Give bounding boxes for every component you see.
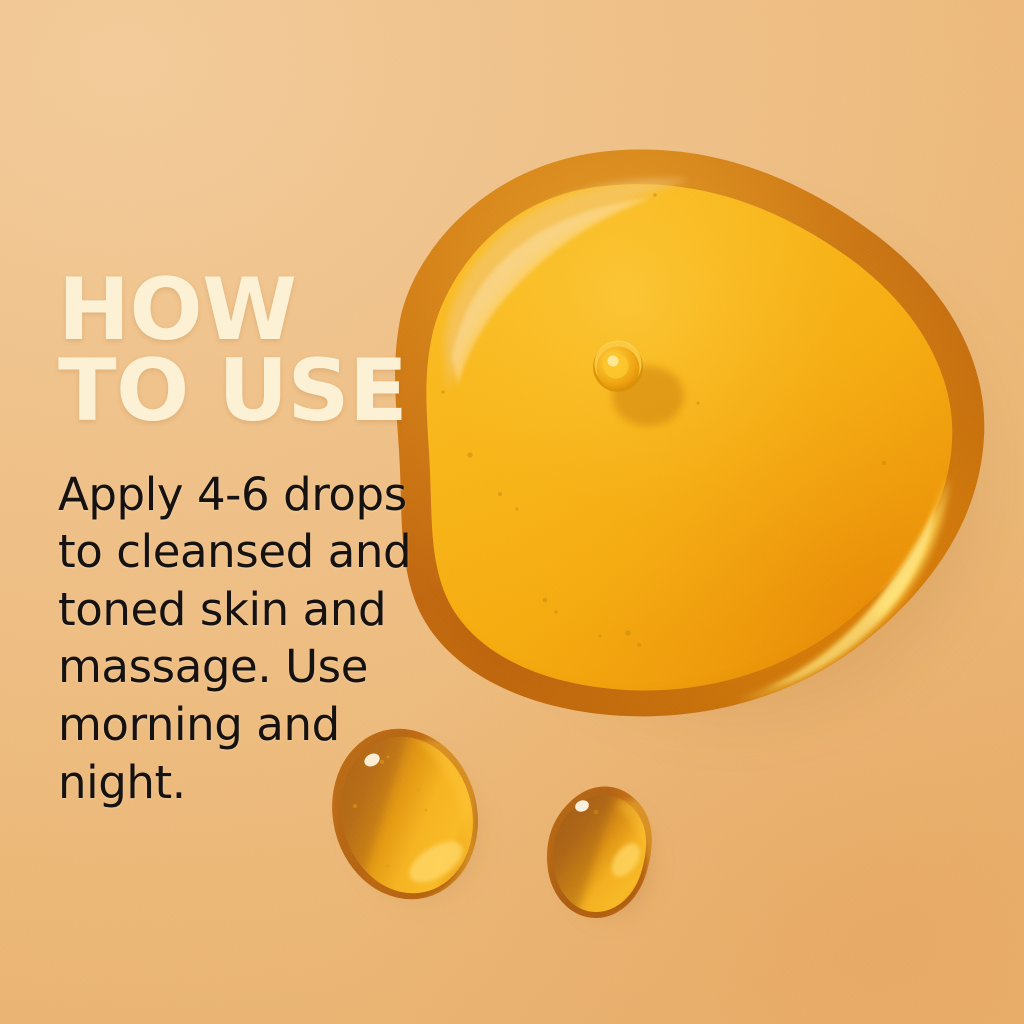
page-title: HOW TO USE <box>58 270 458 432</box>
text-column: HOW TO USE Apply 4-6 drops to cleansed a… <box>58 270 458 811</box>
poster-canvas: HOW TO USE Apply 4-6 drops to cleansed a… <box>0 0 1024 1024</box>
instructions-text: Apply 4-6 drops to cleansed and toned sk… <box>58 466 418 812</box>
